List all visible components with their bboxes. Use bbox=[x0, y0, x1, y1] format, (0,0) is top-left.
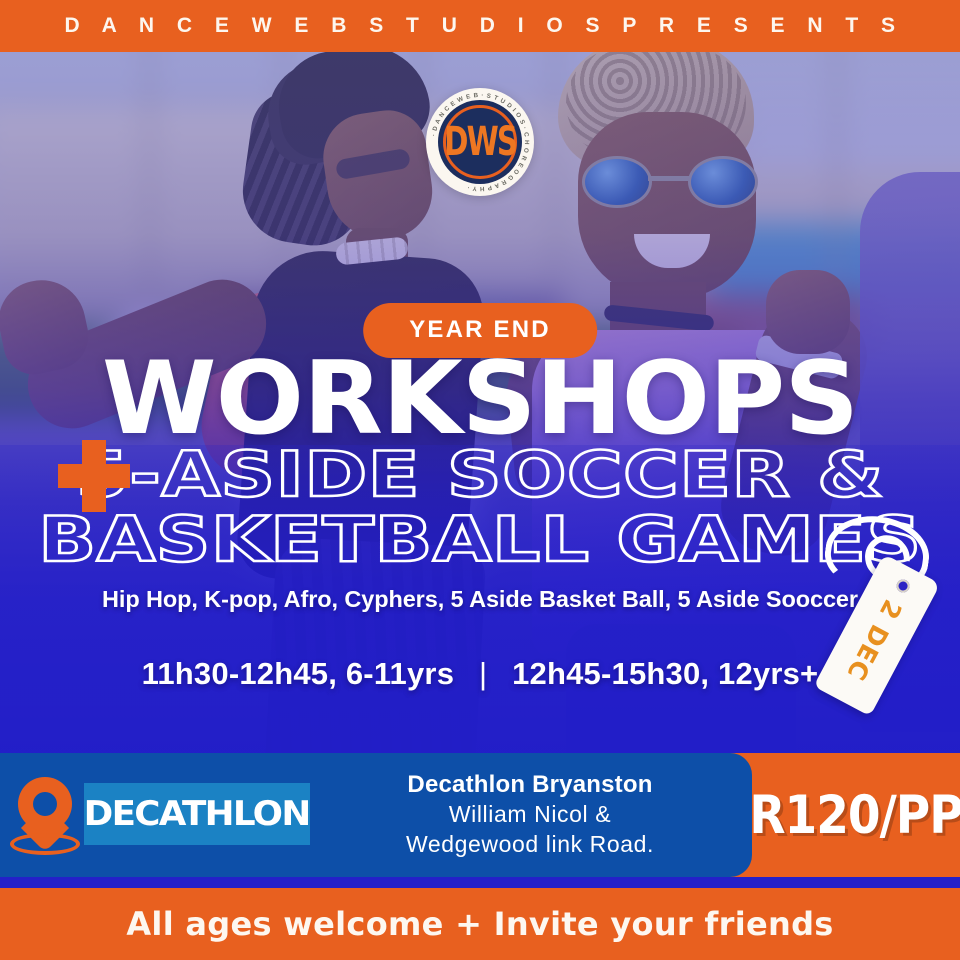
pin-base-ring bbox=[10, 833, 80, 855]
dws-logo: · D A N C E W E B · S T U D I O S · C H … bbox=[426, 88, 534, 196]
logo-monogram: DWS bbox=[444, 119, 516, 165]
venue-blue-panel: DECATHLON Decathlon Bryanston William Ni… bbox=[0, 753, 752, 877]
pin-hole bbox=[33, 792, 57, 816]
schedule-session-1: 11h30-12h45, 6-11yrs bbox=[142, 656, 455, 691]
top-banner-text: D A N C E W E B S T U D I O S P R E S E … bbox=[56, 14, 903, 38]
top-banner: D A N C E W E B S T U D I O S P R E S E … bbox=[0, 0, 960, 52]
venue-address-line-1: Decathlon Bryanston bbox=[320, 769, 740, 800]
headline-workshops: WORKSHOPS bbox=[0, 352, 960, 445]
poster-root: D A N C E W E B S T U D I O S P R E S E … bbox=[0, 0, 960, 960]
footer-banner: All ages welcome + Invite your friends bbox=[0, 888, 960, 960]
decathlon-wordmark: DECATHLON bbox=[84, 794, 310, 834]
headline-basketball: BASKETBALL GAMES bbox=[0, 508, 960, 571]
decathlon-logo-box: DECATHLON bbox=[84, 783, 310, 845]
headline-soccer: 5-ASIDE SOCCER & bbox=[0, 443, 960, 506]
venue-strip: DECATHLON Decathlon Bryanston William Ni… bbox=[0, 753, 960, 877]
footer-text: All ages welcome + Invite your friends bbox=[126, 905, 833, 943]
location-pin-icon bbox=[14, 777, 76, 853]
venue-address: Decathlon Bryanston William Nicol & Wedg… bbox=[320, 769, 740, 860]
year-end-badge: YEAR END bbox=[363, 303, 597, 358]
schedule-separator: | bbox=[463, 656, 503, 691]
headline-block: WORKSHOPS 5-ASIDE SOCCER & BASKETBALL GA… bbox=[0, 352, 960, 571]
venue-address-line-3: Wedgewood link Road. bbox=[320, 830, 740, 860]
orange-plus-icon bbox=[58, 440, 130, 512]
price-text: R120/PP bbox=[749, 784, 960, 846]
price-block: R120/PP bbox=[752, 753, 960, 877]
activity-styles-line: Hip Hop, K-pop, Afro, Cyphers, 5 Aside B… bbox=[0, 586, 960, 613]
venue-address-line-2: William Nicol & bbox=[320, 800, 740, 830]
blue-divider bbox=[0, 877, 960, 888]
logo-inner-disc: DWS bbox=[438, 100, 522, 184]
tag-hole bbox=[894, 577, 912, 595]
schedule-session-2: 12h45-15h30, 12yrs+ bbox=[512, 656, 818, 691]
